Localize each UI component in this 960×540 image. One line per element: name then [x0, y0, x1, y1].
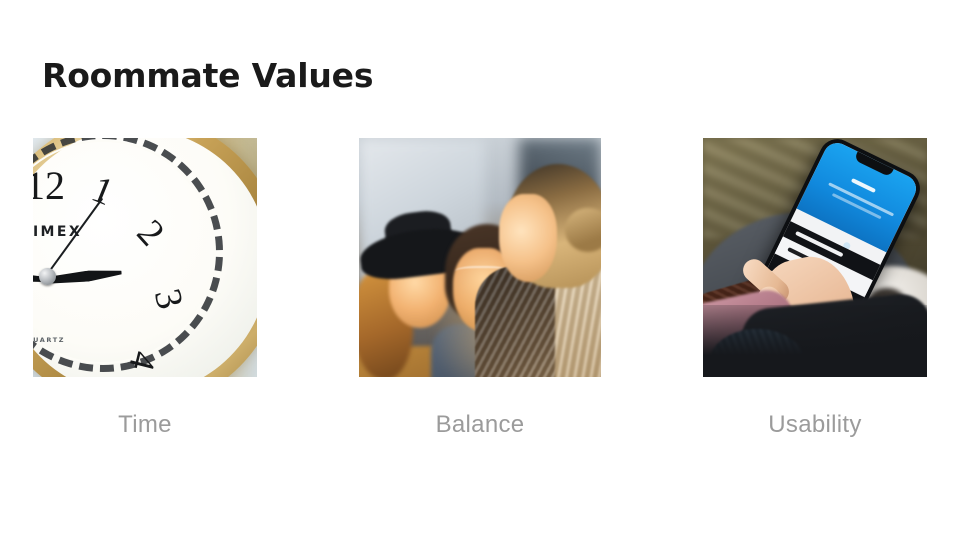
slide-canvas: Roommate Values 11 12 1 2 3: [0, 0, 960, 540]
phone-app-subtitle-line: [828, 182, 894, 216]
value-caption-time: Time: [33, 411, 257, 439]
value-card-time[interactable]: 11 12 1 2 3 4 5 6 TIMEX QUARTZ: [33, 138, 257, 439]
friends-photo: [359, 138, 601, 377]
clock-scene: 11 12 1 2 3 4 5 6 TIMEX QUARTZ: [33, 138, 257, 377]
value-card-usability[interactable]: Usability: [703, 138, 927, 439]
clock-dial: 11 12 1 2 3 4 5 6 TIMEX QUARTZ: [33, 138, 257, 377]
clock-photo: 11 12 1 2 3 4 5 6 TIMEX QUARTZ: [33, 138, 257, 377]
friends-scene: [359, 138, 601, 377]
phone-scene-vignette: [703, 305, 927, 377]
phone-scene: [703, 138, 927, 377]
friend-right-face: [499, 194, 557, 282]
value-caption-balance: Balance: [359, 411, 601, 439]
clock-movement-label: QUARTZ: [33, 336, 65, 344]
clock-numeral-12: 12: [33, 166, 65, 206]
phone-photo: [703, 138, 927, 377]
phone-app-title-text: [851, 178, 876, 193]
page-title: Roommate Values: [42, 56, 373, 95]
clock-center-cap: [39, 268, 56, 285]
value-caption-usability: Usability: [703, 411, 927, 439]
value-card-balance[interactable]: Balance: [359, 138, 601, 439]
